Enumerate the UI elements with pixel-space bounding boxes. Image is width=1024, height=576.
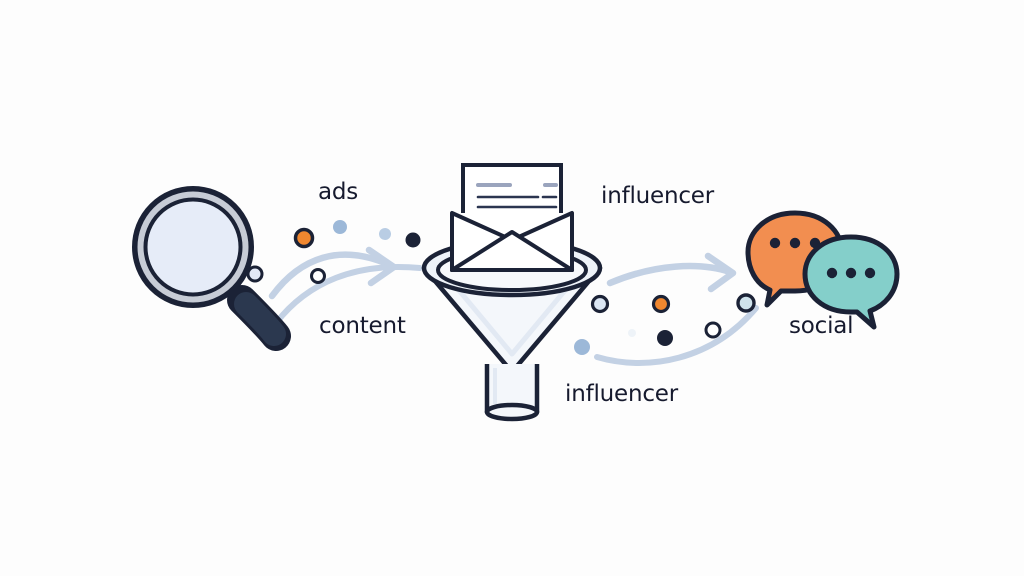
envelope-icon [452, 165, 572, 270]
label-influencer-bottom: influencer [565, 383, 678, 406]
magnifying-glass-icon [135, 189, 276, 336]
label-influencer-top: influencer [601, 185, 714, 208]
diagram-scene [0, 0, 1024, 576]
illustration-canvas: ads content influencer influencer social [0, 0, 1024, 576]
flow-arrow-right-upper [610, 256, 733, 289]
flow-arrow-right-lower [597, 308, 756, 363]
label-social: social [789, 315, 853, 338]
accent-dots-left [248, 220, 421, 283]
accent-dots-right [574, 295, 754, 355]
speech-bubbles-icon [748, 213, 897, 327]
flow-arrow-left-upper [272, 250, 394, 296]
label-ads: ads [318, 181, 358, 204]
label-content: content [319, 315, 406, 338]
